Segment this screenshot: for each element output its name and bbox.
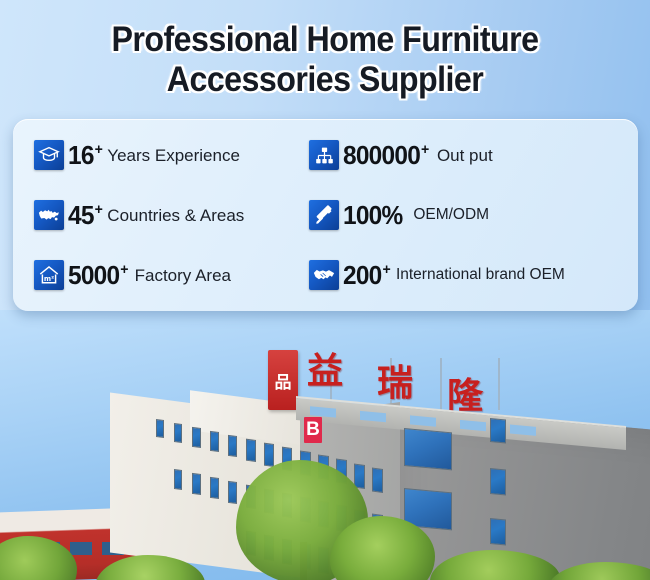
world-map-icon <box>34 200 64 230</box>
building-window <box>174 423 182 443</box>
building-logo-b: B <box>304 417 322 443</box>
building-window <box>404 428 452 470</box>
stat-countries-areas: 45+ Countries & Areas <box>13 185 309 245</box>
building-window <box>156 419 164 438</box>
stat-suffix: + <box>120 261 127 278</box>
building-window <box>264 443 274 467</box>
roof-sign-char-1: 益 <box>307 342 343 394</box>
building-window <box>372 468 383 493</box>
svg-text:m²: m² <box>44 275 54 283</box>
stats-row: 16+ Years Experience 800000+ Out put <box>13 125 638 185</box>
building-window <box>490 418 506 443</box>
stat-factory-area: m² 5000+ Factory Area <box>13 245 309 305</box>
stat-label: Factory Area <box>135 267 231 284</box>
stats-row: m² 5000+ Factory Area 200+ International… <box>13 245 638 305</box>
parapet-gap <box>510 424 536 435</box>
stat-suffix: + <box>382 261 389 278</box>
roof-sign-char-2: 瑞 <box>377 354 413 406</box>
page-title: Professional Home Furniture Accessories … <box>26 0 624 100</box>
stat-label: Countries & Areas <box>107 207 244 224</box>
stat-suffix: + <box>95 201 102 218</box>
stat-label: Years Experience <box>107 147 240 164</box>
building-window <box>192 427 201 448</box>
parapet-gap <box>460 420 486 431</box>
parapet-gap <box>360 411 386 422</box>
stat-value: 5000+ <box>68 262 128 288</box>
building-window <box>210 477 219 499</box>
building-window <box>228 481 237 504</box>
stat-international-brand-oem: 200+ International brand OEM <box>309 245 638 305</box>
page-title-line2: Accessories Supplier <box>26 60 624 100</box>
stat-suffix: + <box>421 141 428 158</box>
building-window <box>490 468 506 495</box>
building-window <box>210 431 219 452</box>
stats-row: 45+ Countries & Areas 100% OEM/ODM <box>13 185 638 245</box>
building-window <box>228 435 237 457</box>
stat-suffix: + <box>95 141 102 158</box>
stat-suffix: % <box>382 200 403 230</box>
stat-value: 200+ <box>343 262 390 288</box>
building-window <box>246 439 256 462</box>
stat-output: 800000+ Out put <box>309 125 638 185</box>
factory-area-icon: m² <box>34 260 64 290</box>
red-building-window <box>70 542 92 555</box>
parapet-gap <box>310 406 336 417</box>
stat-value: 100% <box>343 202 403 228</box>
building-window <box>174 469 182 490</box>
factory-photo: 益 瑞 隆 品 B <box>0 310 650 580</box>
stat-label: OEM/ODM <box>413 207 489 223</box>
graduation-cap-icon <box>34 140 64 170</box>
page-title-line1: Professional Home Furniture <box>111 20 538 59</box>
building-window <box>192 473 201 495</box>
stats-card: 16+ Years Experience 800000+ Out put <box>13 119 638 311</box>
sign-support-mast <box>440 358 442 410</box>
stat-value: 16+ <box>68 142 102 168</box>
stat-label: Out put <box>437 147 493 164</box>
stat-label: International brand OEM <box>396 267 565 283</box>
parapet-gap <box>410 415 436 426</box>
vertical-sign: 品 <box>268 350 298 410</box>
stat-value: 800000+ <box>343 142 428 168</box>
stat-oem-odm: 100% OEM/ODM <box>309 185 638 245</box>
building-window <box>490 518 506 545</box>
stat-years-experience: 16+ Years Experience <box>13 125 309 185</box>
stat-value: 45+ <box>68 202 102 228</box>
design-tools-icon <box>309 200 339 230</box>
org-chart-icon <box>309 140 339 170</box>
handshake-icon <box>309 260 339 290</box>
header-banner: Professional Home Furniture Accessories … <box>0 0 650 110</box>
sign-support-mast <box>498 358 500 410</box>
